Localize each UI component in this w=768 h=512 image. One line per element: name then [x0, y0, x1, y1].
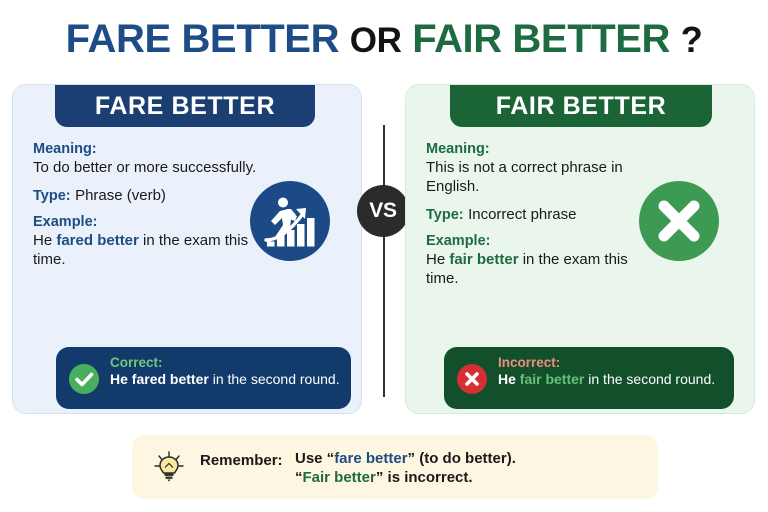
example-label: Example:	[33, 214, 263, 230]
meaning-text: This is not a correct phrase in English.	[426, 158, 656, 196]
card-right-header: FAIR BETTER	[450, 85, 712, 127]
card-right-body: Meaning: This is not a correct phrase in…	[426, 141, 656, 297]
title-term-right: FAIR BETTER	[412, 17, 670, 61]
callout-correct-prefix: He	[110, 371, 132, 387]
type-label: Type:	[426, 207, 464, 223]
card-fare-better: FARE BETTER Meaning: To do better or mor…	[12, 84, 362, 414]
remember-line-1: Use “fare better” (to do better).	[295, 449, 645, 468]
title-conjunction: OR	[350, 21, 402, 60]
callout-correct-text: Correct: He fared better in the second r…	[110, 355, 343, 388]
callout-correct-highlight: fared better	[132, 371, 209, 387]
type-label: Type:	[33, 188, 71, 204]
remember-line1-prefix: Use “	[295, 450, 334, 467]
card-left-body: Meaning: To do better or more successful…	[33, 141, 263, 278]
example-prefix: He	[426, 251, 449, 268]
example-prefix: He	[33, 232, 56, 249]
card-left-type-row: Type: Phrase (verb)	[33, 186, 263, 205]
running-man-growth-chart-icon	[250, 181, 330, 261]
infographic-canvas: FARE BETTER OR FAIR BETTER ? FARE BETTER…	[0, 0, 768, 512]
card-right-meaning-row: Meaning: This is not a correct phrase in…	[426, 141, 656, 196]
callout-correct-suffix: in the second round.	[209, 371, 340, 387]
meaning-text: To do better or more successfully.	[33, 158, 263, 177]
callout-correct-title: Correct:	[110, 355, 343, 371]
remember-line2-suffix: ” is incorrect.	[376, 469, 473, 486]
cross-mark-icon	[639, 181, 719, 261]
title-question-mark: ?	[681, 19, 703, 60]
remember-banner: Remember: Use “fare better” (to do bette…	[132, 435, 658, 499]
card-left-meaning-row: Meaning: To do better or more successful…	[33, 141, 263, 177]
type-value: Incorrect phrase	[468, 206, 576, 223]
title-term-left: FARE BETTER	[66, 17, 339, 61]
example-text: He fair better in the exam this time.	[426, 250, 656, 288]
remember-lines: Use “fare better” (to do better). “Fair …	[295, 449, 645, 487]
callout-incorrect-suffix: in the second round.	[584, 371, 715, 387]
card-fair-better: FAIR BETTER Meaning: This is not a corre…	[405, 84, 755, 414]
example-text: He fared better in the exam this time.	[33, 231, 263, 269]
page-title: FARE BETTER OR FAIR BETTER ?	[0, 16, 768, 64]
card-left-header: FARE BETTER	[55, 85, 315, 127]
remember-line1-highlight: fare better	[334, 450, 407, 467]
remember-line1-suffix: ” (to do better).	[408, 450, 516, 467]
vs-badge: VS	[357, 185, 409, 237]
example-highlight: fared better	[56, 232, 139, 249]
card-left-example-row: Example: He fared better in the exam thi…	[33, 214, 263, 269]
remember-line2-prefix: “	[295, 469, 303, 486]
example-label: Example:	[426, 233, 656, 249]
callout-correct-sentence: He fared better in the second round.	[110, 371, 343, 388]
callout-correct: Correct: He fared better in the second r…	[56, 347, 351, 409]
remember-line-2: “Fair better” is incorrect.	[295, 468, 645, 487]
callout-incorrect-sentence: He fair better in the second round.	[498, 371, 726, 388]
vs-divider-line	[383, 125, 385, 397]
meaning-label: Meaning:	[33, 141, 263, 157]
type-value: Phrase (verb)	[75, 187, 166, 204]
callout-incorrect-title: Incorrect:	[498, 355, 726, 371]
remember-line2-highlight: Fair better	[303, 469, 376, 486]
meaning-label: Meaning:	[426, 141, 656, 157]
example-highlight: fair better	[449, 251, 518, 268]
callout-incorrect-highlight: fair better	[520, 371, 585, 387]
callout-incorrect: Incorrect: He fair better in the second …	[444, 347, 734, 409]
callout-incorrect-text: Incorrect: He fair better in the second …	[498, 355, 726, 388]
card-right-example-row: Example: He fair better in the exam this…	[426, 233, 656, 288]
remember-label: Remember:	[200, 452, 283, 469]
card-right-type-row: Type: Incorrect phrase	[426, 205, 656, 224]
check-icon	[69, 364, 99, 394]
callout-incorrect-prefix: He	[498, 371, 520, 387]
lightbulb-icon	[151, 449, 187, 485]
cross-icon	[457, 364, 487, 394]
